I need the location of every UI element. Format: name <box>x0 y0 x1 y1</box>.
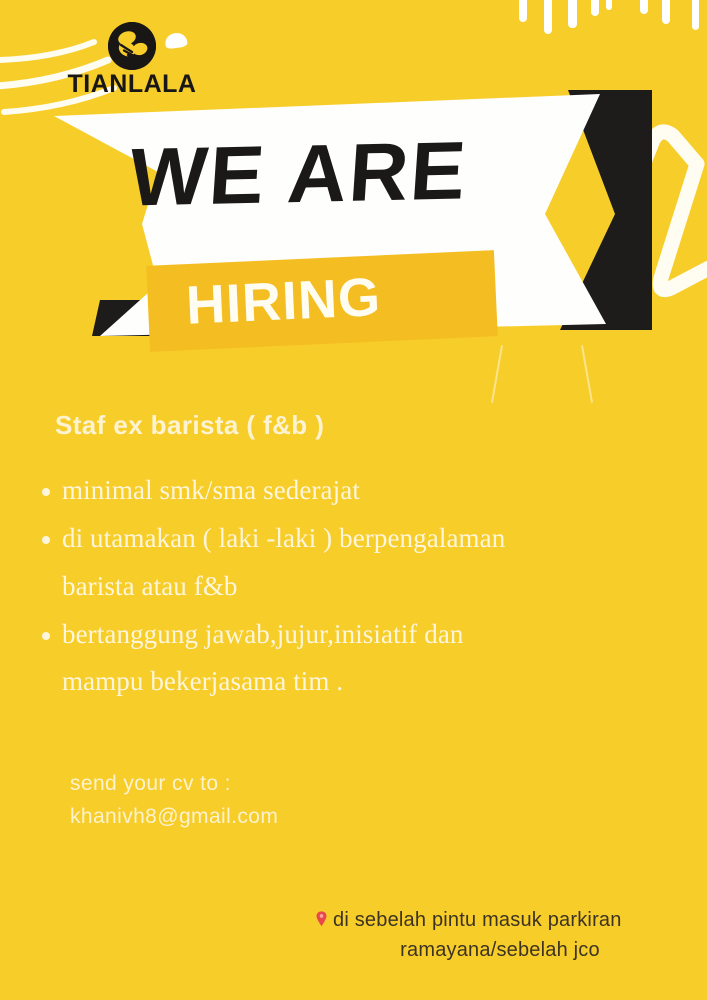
requirement-text: di utamakan ( laki -laki ) berpengalaman <box>62 518 505 560</box>
cv-instructions: send your cv to : khanivh8@gmail.com <box>70 768 278 833</box>
requirement-item: di utamakan ( laki -laki ) berpengalaman <box>38 518 678 560</box>
brand-logo: TIANLALA <box>62 22 202 97</box>
location-info: di sebelah pintu masuk parkiran ramayana… <box>316 905 668 965</box>
bee-icon <box>108 22 156 70</box>
dash-mark <box>662 0 670 24</box>
dash-mark <box>519 0 527 22</box>
dash-mark <box>591 0 599 16</box>
requirement-text: minimal smk/sma sederajat <box>62 470 360 512</box>
location-pin-icon <box>316 906 329 936</box>
dash-mark <box>568 0 577 28</box>
easel-leg <box>581 345 593 402</box>
requirement-item-continuation: mampu bekerjasama tim . <box>38 661 678 703</box>
bullet-dot <box>42 536 50 544</box>
requirement-text: bertanggung jawab,jujur,inisiatif dan <box>62 614 464 656</box>
easel-leg <box>491 345 503 402</box>
requirements-list: minimal smk/sma sederajat di utamakan ( … <box>38 470 678 709</box>
dash-mark <box>606 0 612 10</box>
requirement-item: minimal smk/sma sederajat <box>38 470 678 512</box>
dash-mark <box>692 0 699 30</box>
requirement-text: barista atau f&b <box>62 566 238 608</box>
bullet-dot <box>42 632 50 640</box>
location-line-2: ramayana/sebelah jco <box>316 935 668 965</box>
cv-label: send your cv to : <box>70 768 278 801</box>
job-title: Staf ex barista ( f&b ) <box>55 410 324 441</box>
bullet-dot <box>42 488 50 496</box>
requirement-item-continuation: barista atau f&b <box>38 566 678 608</box>
dash-mark <box>544 0 552 34</box>
dash-mark <box>640 0 648 14</box>
hiring-poster: TIANLALA WE ARE HIRING Staf ex barista (… <box>0 0 707 1000</box>
requirement-item: bertanggung jawab,jujur,inisiatif dan <box>38 614 678 656</box>
requirement-text: mampu bekerjasama tim . <box>62 661 343 703</box>
cv-email[interactable]: khanivh8@gmail.com <box>70 801 278 834</box>
location-text-1: di sebelah pintu masuk parkiran <box>333 909 622 931</box>
location-line-1: di sebelah pintu masuk parkiran <box>316 905 668 935</box>
